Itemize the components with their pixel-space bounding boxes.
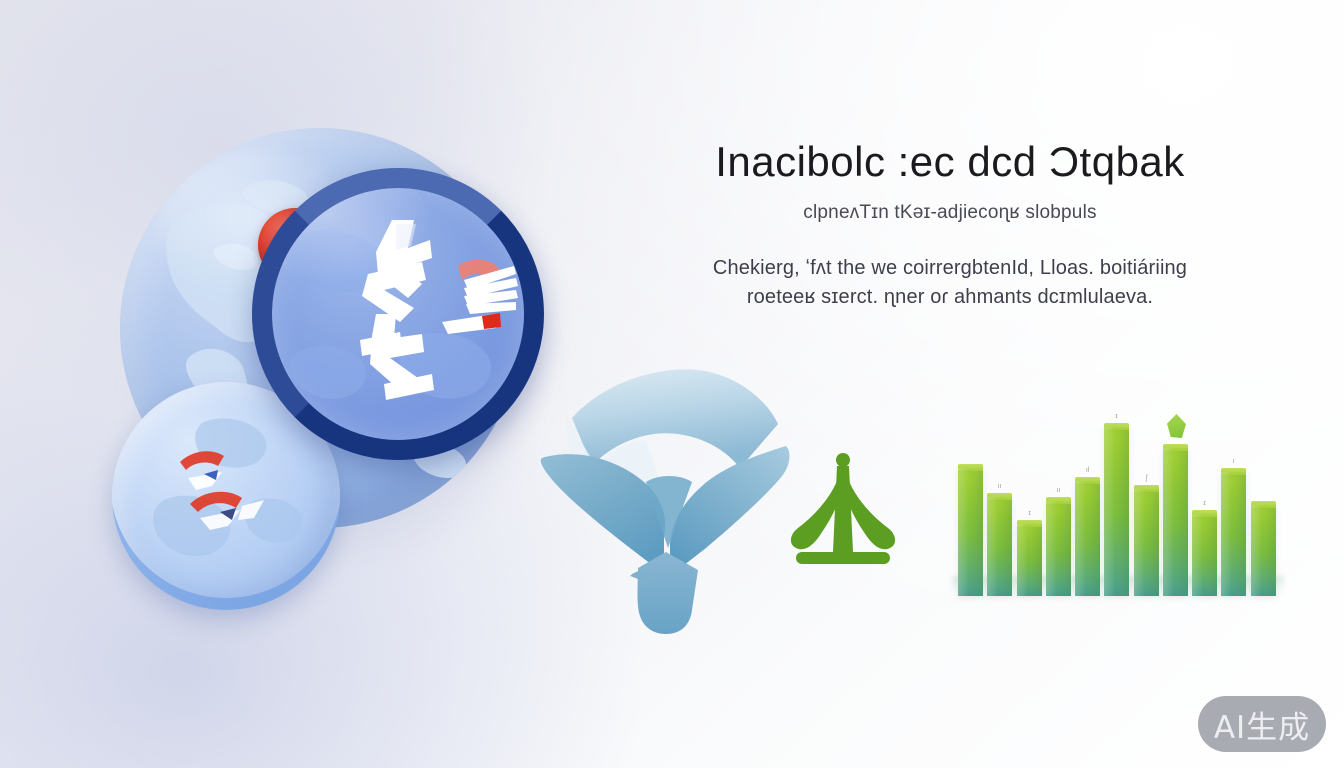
bar-fill [1192, 514, 1217, 596]
bar-tick-label: ıı [1057, 487, 1061, 494]
text-block: Inacibolc :ec dcd Ɔtqbak clpneʌTɪn tKəɪ-… [690, 138, 1210, 312]
bar-fill [1017, 524, 1042, 596]
bar-10 [1221, 472, 1246, 596]
ai-generated-watermark: AI生成 [1198, 696, 1326, 752]
bar-8 [1163, 448, 1188, 596]
bar-tick-label: ɪ [1115, 413, 1118, 420]
bar-cap [1163, 444, 1188, 451]
bar-tick-label: ɪ [1203, 500, 1206, 507]
bar-cap [1075, 477, 1100, 484]
bar-cap [1221, 468, 1246, 475]
magnifier-large-lens [252, 168, 544, 460]
bar-fill [1134, 489, 1159, 596]
bar-cap [1104, 423, 1129, 430]
watermark-label: AI生成 [1214, 702, 1310, 747]
bar-5 [1075, 481, 1100, 596]
bar-9 [1192, 514, 1217, 596]
bar-fill [1104, 427, 1129, 596]
bar-tick-label: ʃ [1146, 475, 1148, 482]
bar-cap [1017, 520, 1042, 527]
bar-fill [987, 497, 1012, 596]
bar-cap [958, 464, 983, 471]
bar-cap [1046, 497, 1071, 504]
bar-7 [1134, 489, 1159, 596]
bar-tick-label: ɪ [1028, 510, 1031, 517]
balance-scales-icon [782, 448, 904, 574]
bar-fill [1163, 448, 1188, 596]
bar-cap [987, 493, 1012, 500]
body-copy-line-1: Chekierg, ʻfʌt the we coirrergbtenId, Ll… [690, 254, 1210, 283]
bar-fill [1046, 501, 1071, 596]
magnifier-large [252, 168, 544, 460]
bar-3 [1017, 524, 1042, 596]
bar-tick-label: ıl [1086, 467, 1090, 474]
bar-tick-label: ıı [998, 483, 1002, 490]
bar-cap [1134, 485, 1159, 492]
bar-fill [958, 468, 983, 596]
body-copy: Chekierg, ʻfʌt the we coirrergbtenId, Ll… [690, 254, 1210, 312]
bar-1 [958, 468, 983, 596]
bar-6 [1104, 427, 1129, 596]
bar-chart: ııɪııılɪʃɪı [958, 390, 1276, 596]
bar-fill [1221, 472, 1246, 596]
bar-2 [987, 497, 1012, 596]
page-subtitle: clpneʌTɪn tKəɪ-adjiecoɳʁ slobpuls [690, 202, 1210, 224]
bar-cap [1251, 501, 1276, 508]
open-book-icon [534, 362, 796, 640]
globe-magnifier-group [112, 120, 562, 580]
bar-fill [1075, 481, 1100, 596]
bar-11 [1251, 505, 1276, 596]
bar-tick-label: ı [1233, 458, 1235, 465]
bar-cap [1192, 510, 1217, 517]
illustration-canvas: Inacibolc :ec dcd Ɔtqbak clpneʌTɪn tKəɪ-… [0, 0, 1344, 768]
body-copy-line-2: roeteeʁ sɪerct. ɳner oɾ ahmants dcɪmlula… [690, 283, 1210, 312]
bar-fill [1251, 505, 1276, 596]
page-title: Inacibolc :ec dcd Ɔtqbak [690, 138, 1210, 186]
leaf-accent-icon [1167, 414, 1186, 438]
bar-4 [1046, 501, 1071, 596]
